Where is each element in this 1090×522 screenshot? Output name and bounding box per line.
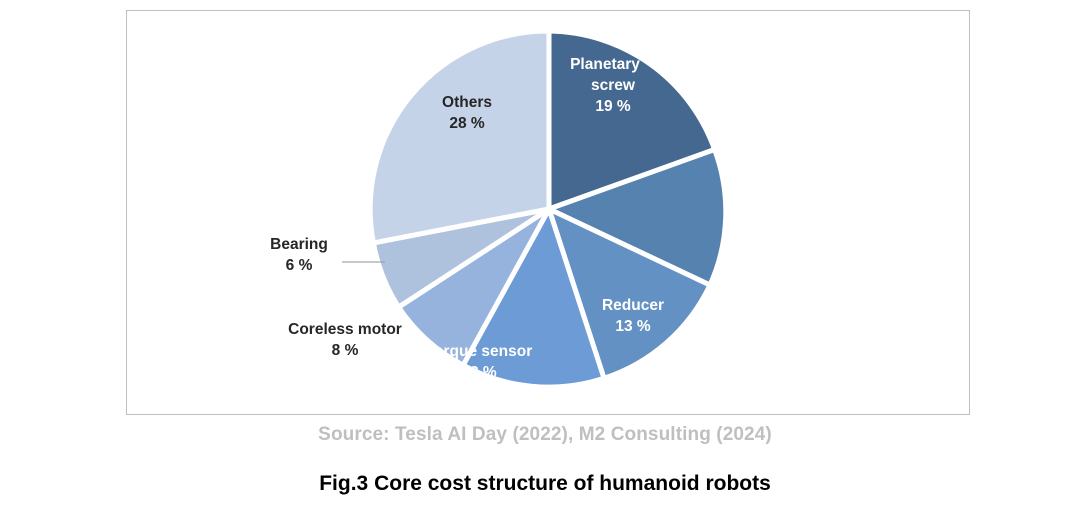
label-planetary-screw-line1: Planetary	[570, 56, 640, 73]
pie-chart: Planetary screw 19 % Reducer 13 % Torque…	[127, 11, 970, 415]
label-bearing-value: 6 %	[286, 257, 313, 274]
source-note: Source: Tesla AI Day (2022), M2 Consulti…	[0, 424, 1090, 446]
label-planetary-screw-line2: screw	[591, 77, 636, 94]
label-coreless-motor-name: Coreless motor	[288, 321, 402, 338]
label-torque-sensor-value: 13 %	[461, 364, 497, 381]
label-coreless-motor-value: 8 %	[332, 342, 359, 359]
label-planetary-screw-value: 19 %	[595, 98, 631, 115]
label-reducer-name: Reducer	[602, 297, 664, 314]
label-bearing-name: Bearing	[270, 236, 328, 253]
figure-caption: Fig.3 Core cost structure of humanoid ro…	[0, 472, 1090, 496]
label-torque-sensor-name: Torque sensor	[426, 343, 533, 360]
figure-container: Planetary screw 19 % Reducer 13 % Torque…	[0, 0, 1090, 522]
pie-slices	[370, 31, 726, 387]
label-reducer-value: 13 %	[615, 318, 651, 335]
label-others-name: Others	[442, 94, 492, 111]
chart-plot-area: Planetary screw 19 % Reducer 13 % Torque…	[126, 10, 970, 415]
label-others-value: 28 %	[449, 115, 485, 132]
slice-others[interactable]	[370, 31, 549, 243]
